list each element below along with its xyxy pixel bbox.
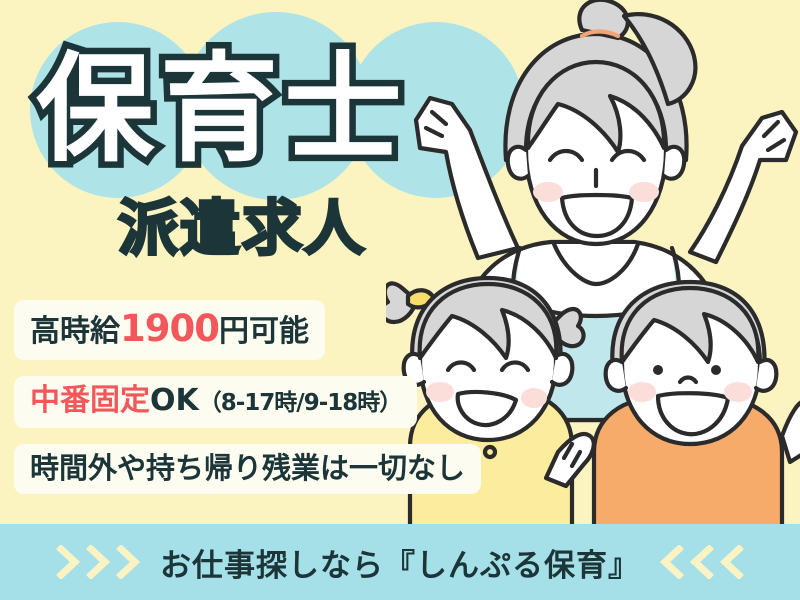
teacher-arm-right xyxy=(690,112,796,262)
teacher-arm-left xyxy=(416,98,518,258)
badge-wage-prefix: 高時給 xyxy=(30,314,120,349)
badge-wage-amount: 1900 xyxy=(120,307,219,350)
teacher-ear-right xyxy=(664,147,684,179)
job-ad-banner: 保育士 派遣求人 高時給1900円可能 中番固定OK（8-17時/9-18時） … xyxy=(0,0,800,600)
badge-shift-ok: OK xyxy=(150,383,199,418)
teacher-cheek-right xyxy=(629,182,659,202)
boy-cheek-right xyxy=(724,382,752,402)
bottom-ribbon: お仕事探しなら『しんぷる保育』 xyxy=(0,524,800,600)
chevron-left-icon xyxy=(688,545,714,579)
boy-hand xyxy=(782,401,800,462)
chevron-left-icon xyxy=(658,545,684,579)
chevron-right-group xyxy=(56,545,142,579)
ribbon-tagline: お仕事探しなら『しんぷる保育』 xyxy=(160,540,640,585)
girl-shirt-button xyxy=(485,447,495,457)
badge-overtime: 時間外や持ち帰り残業は一切なし xyxy=(14,444,481,494)
chevron-left-group xyxy=(658,545,744,579)
feature-badge-list: 高時給1900円可能 中番固定OK（8-17時/9-18時） 時間外や持ち帰り残… xyxy=(14,300,481,494)
badge-shift: 中番固定OK（8-17時/9-18時） xyxy=(14,376,417,428)
badge-shift-highlight: 中番固定 xyxy=(30,383,150,418)
chevron-right-icon xyxy=(86,545,112,579)
girl-cheek-right xyxy=(521,388,547,408)
teacher-ear-left xyxy=(508,147,528,179)
chevron-right-icon xyxy=(116,545,142,579)
chevron-right-icon xyxy=(56,545,82,579)
page-subtitle: 派遣求人 xyxy=(118,196,366,262)
badge-wage: 高時給1900円可能 xyxy=(14,300,325,360)
boy-eye-left xyxy=(653,365,663,375)
badge-wage-suffix: 円可能 xyxy=(219,314,309,349)
teacher-cheek-left xyxy=(533,182,563,202)
boy-cheek-left xyxy=(628,382,656,402)
badge-overtime-text: 時間外や持ち帰り残業は一切なし xyxy=(30,451,465,485)
badge-shift-hours: （8-17時/9-18時） xyxy=(199,390,402,416)
chevron-left-icon xyxy=(718,545,744,579)
boy-eye-right xyxy=(711,365,721,375)
